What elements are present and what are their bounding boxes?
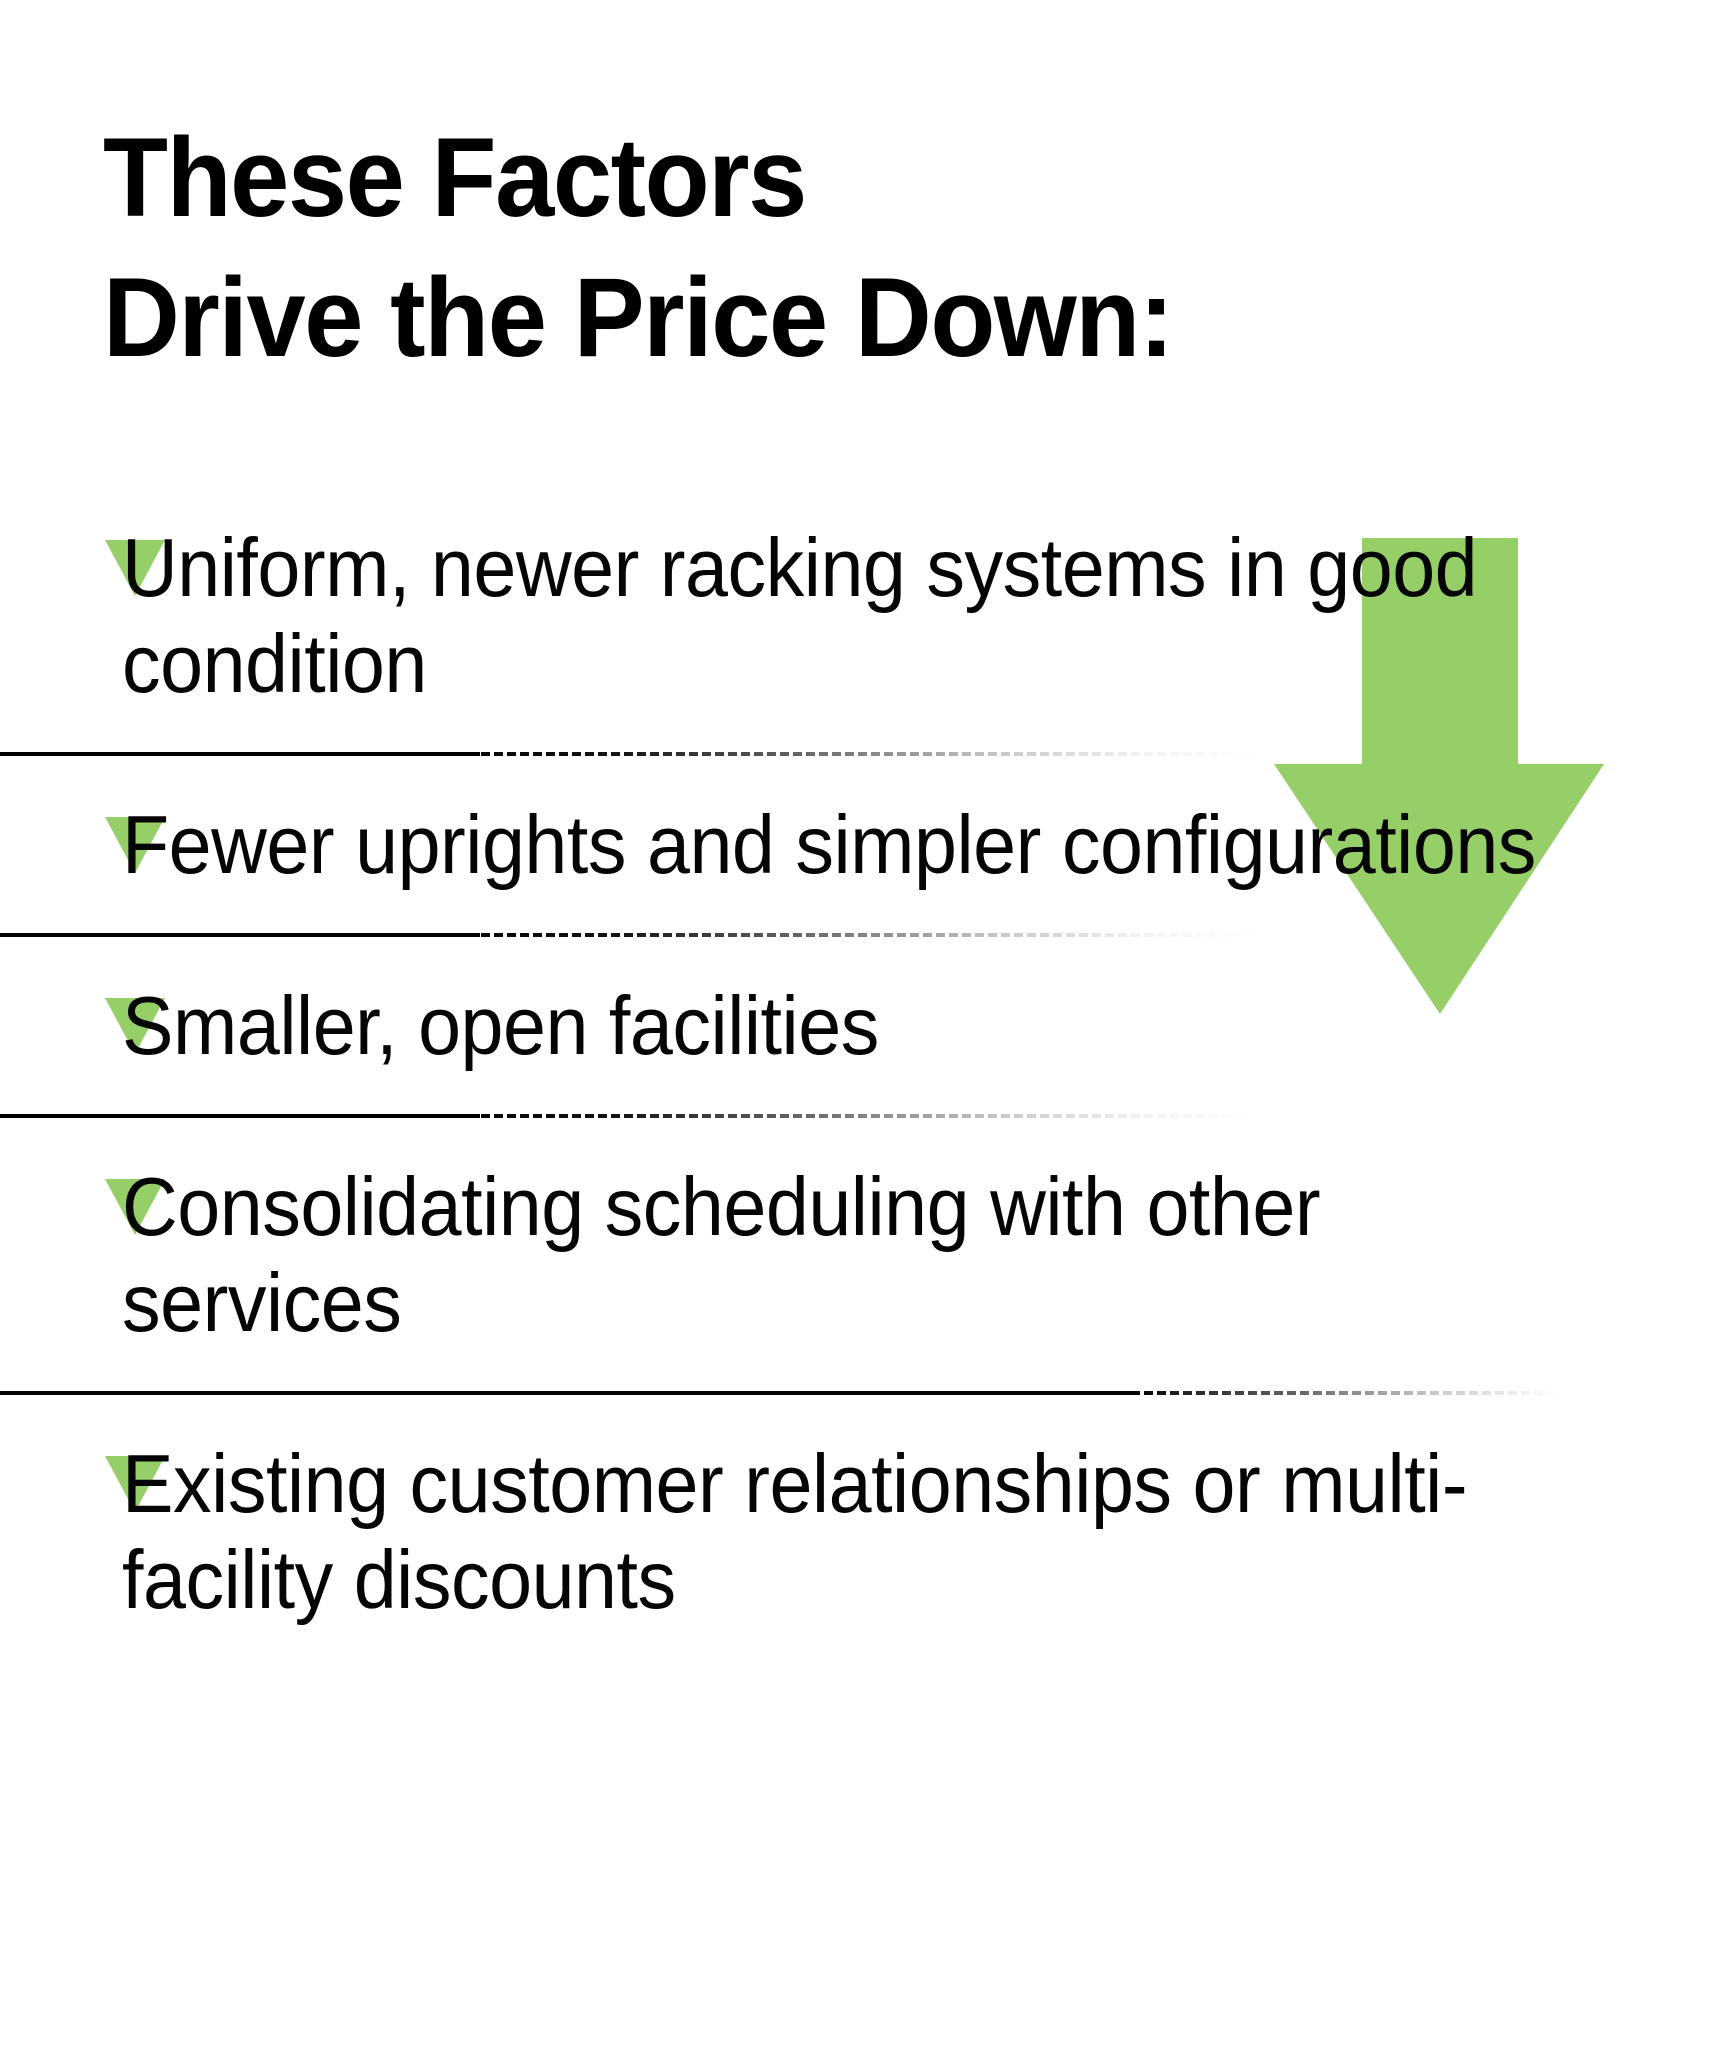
row-spacer xyxy=(0,757,1719,797)
divider-solid-segment xyxy=(0,752,480,756)
factors-list: Uniform, newer racking systems in good c… xyxy=(0,520,1719,1628)
bullet-cell xyxy=(0,520,122,596)
row-spacer xyxy=(0,1119,1719,1159)
row-spacer xyxy=(0,893,1719,933)
divider-solid-segment xyxy=(0,1391,1140,1395)
list-item: Uniform, newer racking systems in good c… xyxy=(0,520,1719,712)
divider xyxy=(0,933,1719,938)
bullet-cell xyxy=(0,1159,122,1235)
page-title-line-1: These Factors xyxy=(103,108,1452,248)
row-spacer xyxy=(0,1396,1719,1436)
list-item: Existing customer relationships or multi… xyxy=(0,1436,1719,1628)
bullet-cell xyxy=(0,978,122,1054)
divider xyxy=(0,1391,1719,1396)
page-title: These Factors Drive the Price Down: xyxy=(103,108,1523,388)
bullet-cell xyxy=(0,797,122,873)
bullet-cell xyxy=(0,1436,122,1512)
list-item-label: Fewer uprights and simpler configuration… xyxy=(122,797,1607,893)
row-spacer xyxy=(0,712,1719,752)
divider-solid-segment xyxy=(0,933,480,937)
divider xyxy=(0,1114,1719,1119)
page-title-line-2: Drive the Price Down: xyxy=(103,248,1452,388)
infographic-page: These Factors Drive the Price Down: Unif… xyxy=(0,0,1719,2049)
list-item-label: Uniform, newer racking systems in good c… xyxy=(122,520,1607,712)
list-item-label: Existing customer relationships or multi… xyxy=(122,1436,1607,1628)
list-item-label: Consolidating scheduling with other serv… xyxy=(122,1159,1607,1351)
row-spacer xyxy=(0,1074,1719,1114)
list-item: Consolidating scheduling with other serv… xyxy=(0,1159,1719,1351)
row-spacer xyxy=(0,1351,1719,1391)
divider xyxy=(0,752,1719,757)
list-item: Smaller, open facilities xyxy=(0,978,1719,1074)
divider-solid-segment xyxy=(0,1114,480,1118)
list-item-label: Smaller, open facilities xyxy=(122,978,1607,1074)
list-item: Fewer uprights and simpler configuration… xyxy=(0,797,1719,893)
row-spacer xyxy=(0,938,1719,978)
